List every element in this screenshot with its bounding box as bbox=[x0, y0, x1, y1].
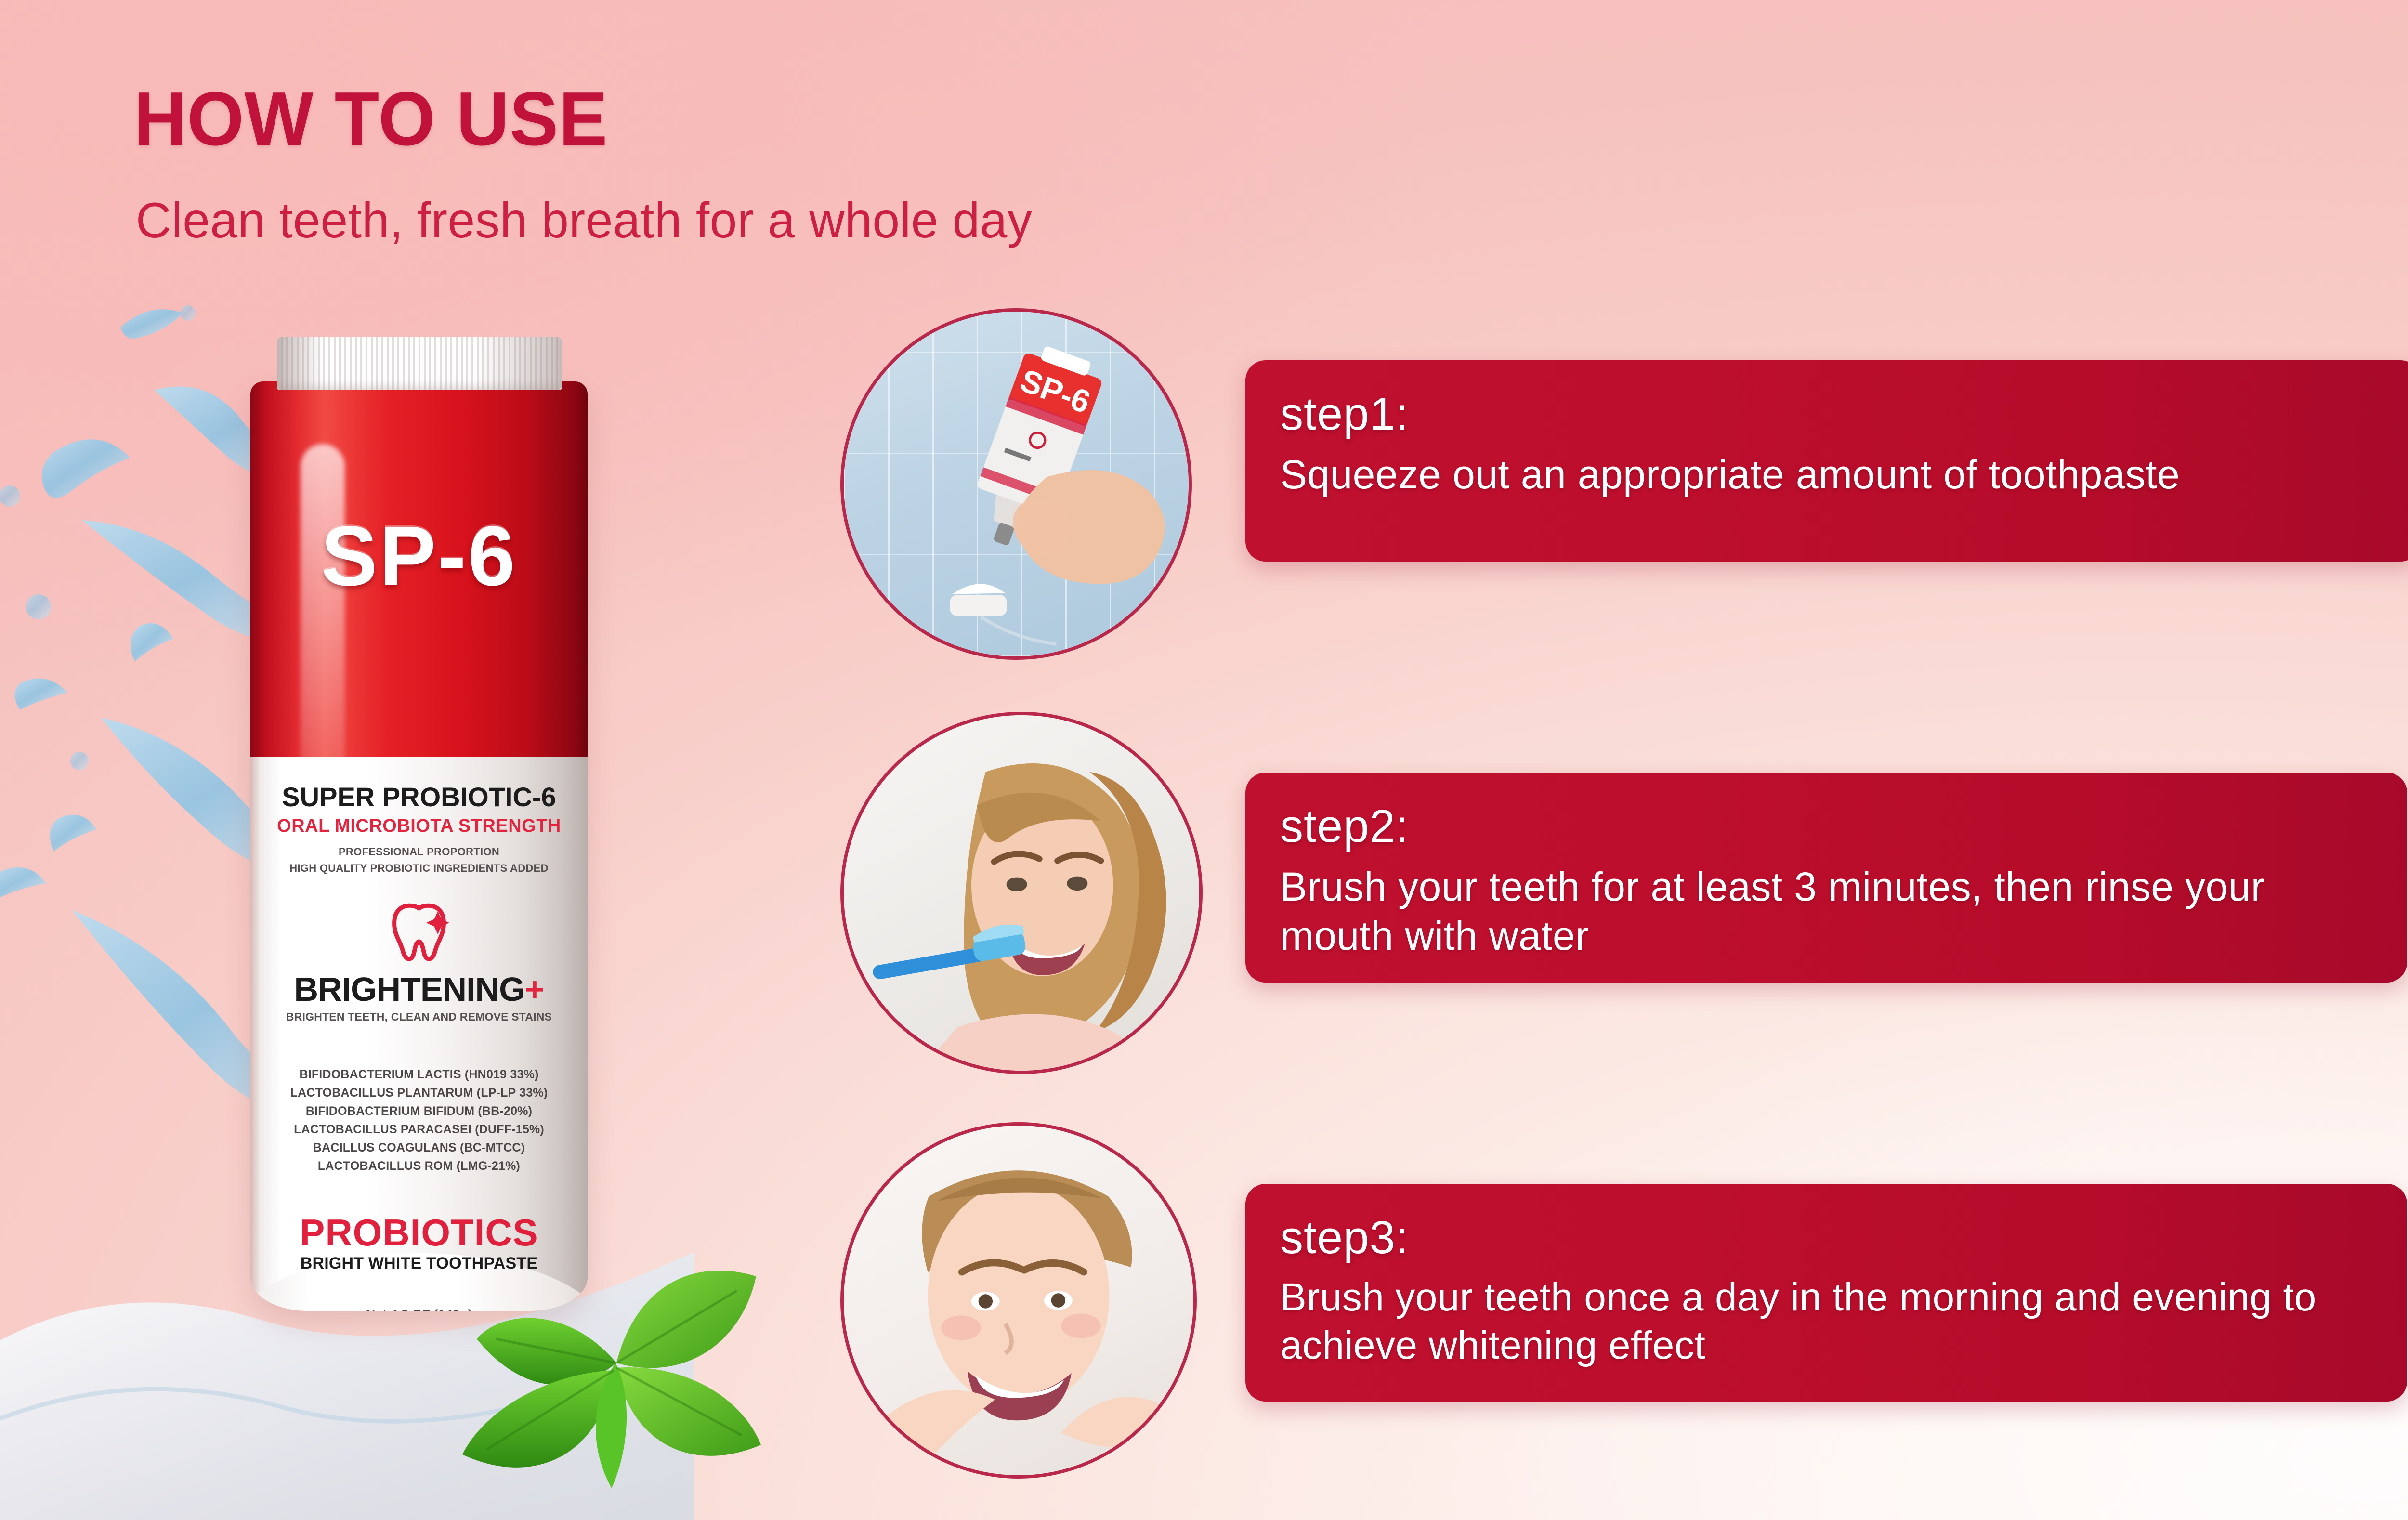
tube-feature-name: BRIGHTENING+ bbox=[250, 970, 588, 1009]
strain-item: LACTOBACILLUS ROM (LMG-21%) bbox=[250, 1157, 588, 1175]
page-title: HOW TO USE bbox=[134, 81, 608, 157]
strain-item: LACTOBACILLUS PLANTARUM (LP-LP 33%) bbox=[250, 1084, 588, 1102]
strain-item: LACTOBACILLUS PARACASEI (DUFF-15%) bbox=[250, 1120, 588, 1139]
strain-item: BIFIDOBACTERIUM LACTIS (HN019 33%) bbox=[250, 1065, 588, 1084]
page-subtitle: Clean teeth, fresh breath for a whole da… bbox=[136, 193, 1032, 249]
step-2-description: Brush your teeth for at least 3 minutes,… bbox=[1280, 862, 2369, 961]
mint-leaves-icon bbox=[424, 1219, 799, 1517]
tube-product-tagline: ORAL MICROBIOTA STRENGTH bbox=[250, 816, 588, 837]
tooth-icon bbox=[250, 897, 588, 971]
woman-brushing-illustration bbox=[844, 715, 1199, 1071]
smiling-woman-illustration bbox=[844, 1126, 1193, 1475]
tube-strain-list: BIFIDOBACTERIUM LACTIS (HN019 33%) LACTO… bbox=[250, 1065, 588, 1175]
photo-3-scene bbox=[844, 1126, 1193, 1475]
step-1-description: Squeeze out an appropriate amount of too… bbox=[1280, 450, 2383, 499]
step-1-label: step1: bbox=[1280, 391, 2383, 437]
hand-with-tube-illustration: SP-6 bbox=[844, 312, 1189, 656]
step-2-panel[interactable]: step2: Brush your teeth for at least 3 m… bbox=[1245, 773, 2407, 983]
tube-brand-sp6: SP-6 bbox=[250, 508, 588, 605]
tube-claim-line-2: HIGH QUALITY PROBIOTIC INGREDIENTS ADDED bbox=[250, 862, 588, 875]
step-3-label: step3: bbox=[1280, 1215, 2369, 1261]
product-tube-image: SP-6 SUPER PROBIOTIC-6 ORAL MICROBIOTA S… bbox=[231, 337, 645, 1339]
step-1-photo: SP-6 bbox=[840, 308, 1192, 660]
step-2-photo bbox=[840, 712, 1203, 1074]
step-1-panel[interactable]: step1: Squeeze out an appropriate amount… bbox=[1245, 360, 2408, 562]
tube-feature-plus: + bbox=[525, 970, 544, 1008]
step-3-description: Brush your teeth once a day in the morni… bbox=[1280, 1273, 2369, 1370]
step-3-panel[interactable]: step3: Brush your teeth once a day in th… bbox=[1245, 1184, 2407, 1402]
tube-cap-shading bbox=[277, 337, 562, 390]
tube-feature-text: BRIGHTENING bbox=[294, 970, 525, 1008]
step-2-label: step2: bbox=[1280, 803, 2369, 850]
step-3-photo bbox=[840, 1122, 1197, 1479]
tube-feature-sub: BRIGHTEN TEETH, CLEAN AND REMOVE STAINS bbox=[250, 1010, 588, 1023]
tube-gloss-highlight bbox=[301, 444, 345, 781]
strain-item: BIFIDOBACTERIUM BIFIDUM (BB-20%) bbox=[250, 1102, 588, 1120]
tube-body: SP-6 SUPER PROBIOTIC-6 ORAL MICROBIOTA S… bbox=[250, 381, 588, 1311]
tube-product-name: SUPER PROBIOTIC-6 bbox=[250, 781, 588, 812]
tube-claim-line-1: PROFESSIONAL PROPORTION bbox=[250, 846, 588, 858]
photo-2-scene bbox=[844, 715, 1199, 1071]
strain-item: BACILLUS COAGULANS (BC-MTCC) bbox=[250, 1139, 588, 1157]
photo-1-scene: SP-6 bbox=[844, 312, 1189, 656]
